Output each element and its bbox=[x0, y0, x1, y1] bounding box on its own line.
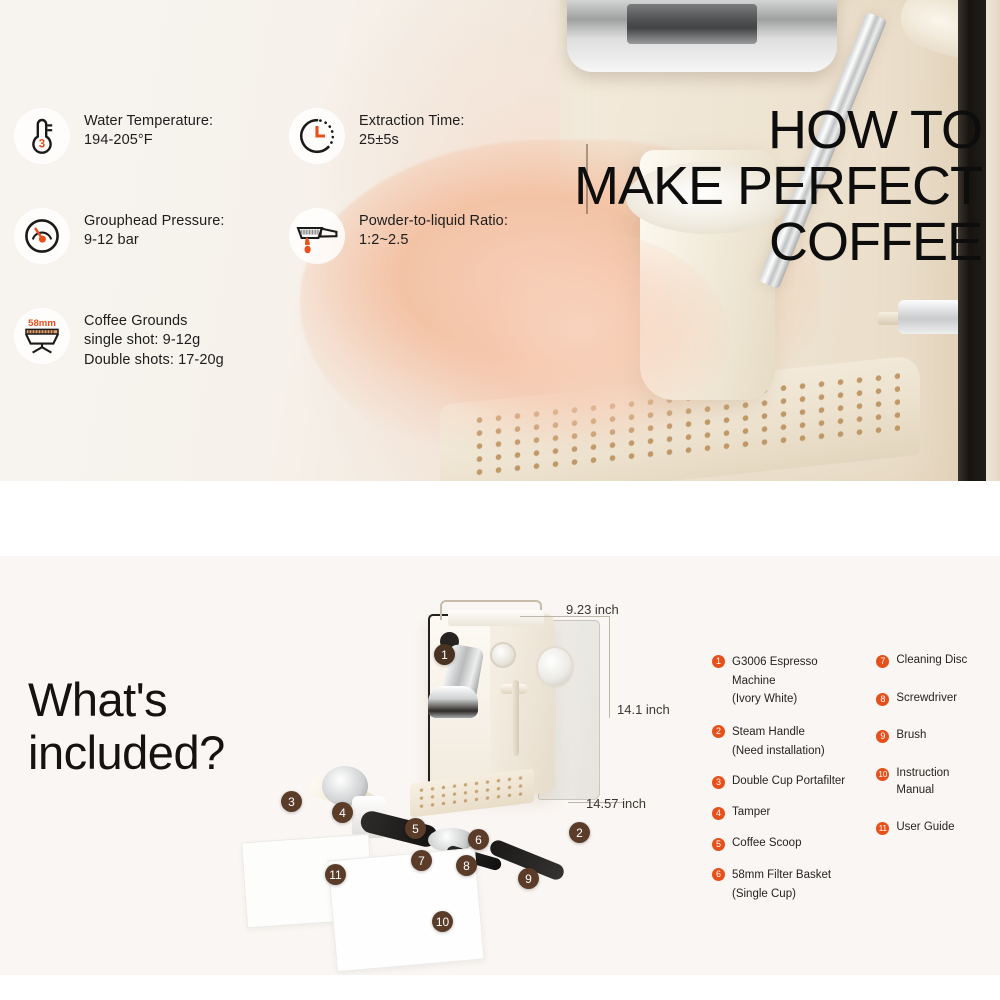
badge-2: 2 bbox=[569, 822, 590, 843]
badge-7: 7 bbox=[411, 850, 432, 871]
legend-number: 4 bbox=[712, 807, 725, 820]
legend-column-left: 1 G3006 Espresso Machine (Ivory White) 2… bbox=[712, 652, 856, 917]
legend-label: Tamper bbox=[732, 804, 770, 821]
legend-number: 9 bbox=[876, 730, 889, 743]
legend-label: User Guide bbox=[896, 819, 954, 836]
legend-label: Steam Handle bbox=[732, 726, 805, 738]
badge-6: 6 bbox=[468, 829, 489, 850]
dim-line-height bbox=[609, 616, 610, 718]
legend-label: Brush bbox=[896, 727, 926, 744]
top-plate bbox=[448, 610, 544, 626]
heading-line-1: What's bbox=[28, 674, 225, 727]
section-heading: What's included? bbox=[28, 674, 225, 779]
badge-5: 5 bbox=[405, 818, 426, 839]
badge-8: 8 bbox=[456, 855, 477, 876]
grouphead-photo bbox=[567, 0, 837, 72]
legend-text: G3006 Espresso Machine (Ivory White) bbox=[732, 652, 856, 708]
pressure-gauge bbox=[490, 642, 516, 668]
title-line-3: COFFEE bbox=[574, 214, 982, 270]
legend-number: 11 bbox=[876, 822, 889, 835]
spec-label: Extraction Time: bbox=[359, 112, 465, 131]
spec-coffee-grounds: 58mm Coffee Grounds bbox=[14, 308, 224, 370]
badge-11: 11 bbox=[325, 864, 346, 885]
hot-water-knob-photo bbox=[898, 300, 962, 334]
spec-value: 25±5s bbox=[359, 131, 465, 150]
thermometer-icon: 3 bbox=[14, 108, 70, 164]
background-right-strip bbox=[986, 0, 1000, 481]
legend-label: Instruction Manual bbox=[896, 765, 988, 798]
legend-number: 7 bbox=[876, 655, 889, 668]
legend-label: Double Cup Portafilter bbox=[732, 773, 845, 790]
svg-text:58mm: 58mm bbox=[28, 318, 56, 329]
legend-sublabel: (Need installation) bbox=[732, 745, 825, 757]
spec-extraction-time: Extraction Time: 25±5s bbox=[289, 108, 465, 164]
top-hero-panel: HOW TO MAKE PERFECT COFFEE 3 Water Tempe… bbox=[0, 0, 1000, 481]
legend-number: 6 bbox=[712, 868, 725, 881]
dimension-depth-label: 14.57 inch bbox=[586, 796, 646, 811]
side-cap bbox=[536, 646, 574, 688]
spec-value: 194-205°F bbox=[84, 131, 213, 150]
legend-number: 5 bbox=[712, 838, 725, 851]
steam-pipe bbox=[512, 680, 519, 756]
portafilter-attached bbox=[428, 686, 478, 718]
spec-value: 9-12 bar bbox=[84, 231, 225, 250]
legend-sublabel: (Single Cup) bbox=[732, 888, 796, 900]
legend-sublabel: (Ivory White) bbox=[732, 693, 797, 705]
filter-basket-icon: 58mm bbox=[14, 308, 70, 364]
legend-number: 8 bbox=[876, 693, 889, 706]
legend-label: 58mm Filter Basket bbox=[732, 869, 831, 881]
spec-value-single: single shot: 9-12g bbox=[84, 331, 224, 350]
legend-item-5: 5 Coffee Scoop bbox=[712, 835, 856, 852]
legend-item-9: 9 Brush bbox=[876, 727, 988, 744]
badge-9: 9 bbox=[518, 868, 539, 889]
heading-line-2: included? bbox=[28, 727, 225, 780]
legend-column-right: 7 Cleaning Disc 8 Screwdriver 9 Brush 10… bbox=[876, 652, 988, 917]
badge-3: 3 bbox=[281, 791, 302, 812]
spec-water-temperature: 3 Water Temperature: 194-205°F bbox=[14, 108, 213, 164]
whats-included-panel: What's included? 9.23 inch 14.1 inch 14.… bbox=[0, 556, 1000, 975]
legend-item-2: 2 Steam Handle (Need installation) bbox=[712, 722, 856, 759]
legend-text: Steam Handle (Need installation) bbox=[732, 722, 825, 759]
title-line-2: MAKE PERFECT bbox=[574, 158, 982, 214]
legend-item-4: 4 Tamper bbox=[712, 804, 856, 821]
legend-item-8: 8 Screwdriver bbox=[876, 690, 988, 707]
legend-number: 3 bbox=[712, 776, 725, 789]
clock-icon bbox=[289, 108, 345, 164]
spec-powder-liquid-ratio-text: Powder-to-liquid Ratio: 1:2~2.5 bbox=[359, 208, 508, 251]
spec-extraction-time-text: Extraction Time: 25±5s bbox=[359, 108, 465, 151]
spec-label: Powder-to-liquid Ratio: bbox=[359, 212, 508, 231]
svg-text:3: 3 bbox=[39, 139, 45, 151]
legend-item-7: 7 Cleaning Disc bbox=[876, 652, 988, 669]
legend-item-1: 1 G3006 Espresso Machine (Ivory White) bbox=[712, 652, 856, 708]
legend-number: 1 bbox=[712, 655, 725, 668]
legend-text: 58mm Filter Basket (Single Cup) bbox=[732, 865, 831, 902]
legend-item-11: 11 User Guide bbox=[876, 819, 988, 836]
spec-grouphead-pressure-text: Grouphead Pressure: 9-12 bar bbox=[84, 208, 225, 251]
legend-item-6: 6 58mm Filter Basket (Single Cup) bbox=[712, 865, 856, 902]
badge-4: 4 bbox=[332, 802, 353, 823]
legend-label: G3006 Espresso Machine bbox=[732, 656, 818, 687]
spec-water-temperature-text: Water Temperature: 194-205°F bbox=[84, 108, 213, 151]
spec-powder-liquid-ratio: Powder-to-liquid Ratio: 1:2~2.5 bbox=[289, 208, 508, 264]
badge-10: 10 bbox=[432, 911, 453, 932]
spec-grouphead-pressure: Grouphead Pressure: 9-12 bar bbox=[14, 208, 225, 264]
legend-number: 2 bbox=[712, 725, 725, 738]
spec-value-double: Double shots: 17-20g bbox=[84, 351, 224, 370]
espresso-machine-illustration bbox=[404, 594, 664, 854]
infographic-page: HOW TO MAKE PERFECT COFFEE 3 Water Tempe… bbox=[0, 0, 1000, 1000]
pressure-gauge-icon bbox=[14, 208, 70, 264]
spec-label: Coffee Grounds bbox=[84, 312, 224, 331]
badge-1: 1 bbox=[434, 644, 455, 665]
legend-item-10: 10 Instruction Manual bbox=[876, 765, 988, 798]
spec-label: Grouphead Pressure: bbox=[84, 212, 225, 231]
legend-item-3: 3 Double Cup Portafilter bbox=[712, 773, 856, 790]
legend-label: Coffee Scoop bbox=[732, 835, 801, 852]
page-title: HOW TO MAKE PERFECT COFFEE bbox=[574, 102, 982, 270]
title-line-1: HOW TO bbox=[574, 102, 982, 158]
legend-label: Screwdriver bbox=[896, 690, 957, 707]
spec-coffee-grounds-text: Coffee Grounds single shot: 9-12g Double… bbox=[84, 308, 224, 370]
legend-label: Cleaning Disc bbox=[896, 652, 967, 669]
spec-label: Water Temperature: bbox=[84, 112, 213, 131]
spec-value: 1:2~2.5 bbox=[359, 231, 508, 250]
legend-number: 10 bbox=[876, 768, 889, 781]
portafilter-extraction-icon bbox=[289, 208, 345, 264]
included-items-legend: 1 G3006 Espresso Machine (Ivory White) 2… bbox=[712, 652, 988, 917]
dimension-width-label: 9.23 inch bbox=[566, 602, 619, 617]
dimension-height-label: 14.1 inch bbox=[617, 702, 670, 717]
